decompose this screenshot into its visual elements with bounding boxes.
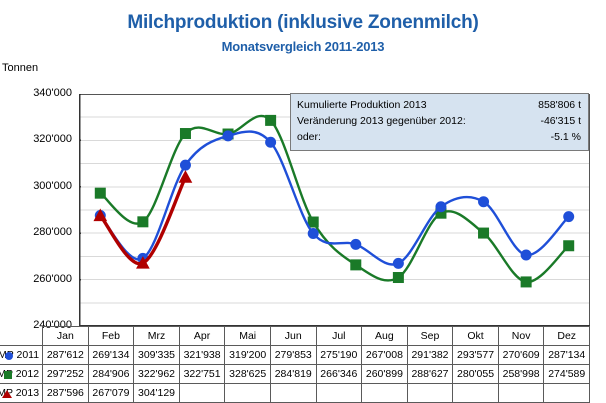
annotation-value: -5.1 % [551, 130, 581, 145]
chart-page: Milchproduktion (inklusive Zonenmilch) M… [0, 0, 606, 402]
page-title: Milchproduktion (inklusive Zonenmilch) [0, 12, 606, 34]
annotation-row-change: Veränderung 2013 gegenüber 2012: -46'315… [297, 114, 581, 129]
table-cell: 287'596 [43, 384, 89, 403]
data-point-marker [180, 160, 190, 170]
annotation-label: Kumulierte Produktion 2013 [297, 98, 427, 113]
data-point-marker [393, 273, 403, 283]
table-cell: 288'627 [407, 365, 453, 384]
table-column-header-nov: Nov [498, 327, 544, 346]
table-cell: 304'129 [134, 384, 180, 403]
table-corner-cell [0, 327, 43, 346]
table-cell: 279'853 [270, 346, 316, 365]
table-column-header-jul: Jul [316, 327, 362, 346]
data-point-marker [479, 228, 489, 238]
table-body: MP 2011287'612269'134309'335321'938319'2… [0, 346, 590, 403]
table-column-header-feb: Feb [88, 327, 134, 346]
table-column-header-jun: Jun [270, 327, 316, 346]
table-cell: 319'200 [225, 346, 271, 365]
table-cell: 275'190 [316, 346, 362, 365]
table-column-header-apr: Apr [179, 327, 225, 346]
y-tick-label: 280'000 [0, 226, 72, 238]
data-point-marker [266, 137, 276, 147]
legend-entry-mp-2012[interactable]: MP 2012 [0, 365, 43, 384]
table-cell: 321'938 [179, 346, 225, 365]
table-cell: 284'819 [270, 365, 316, 384]
table-cell: 280'055 [453, 365, 499, 384]
table-cell: 267'008 [362, 346, 408, 365]
table-column-header-mai: Mai [225, 327, 271, 346]
data-point-marker [521, 277, 531, 287]
table-cell: 328'625 [225, 365, 271, 384]
table-cell: 269'134 [88, 346, 134, 365]
table-row: MP 2011287'612269'134309'335321'938319'2… [0, 346, 590, 365]
table-cell [544, 384, 590, 403]
table-cell [362, 384, 408, 403]
annotation-row-percent: oder: -5.1 % [297, 130, 581, 145]
data-point-marker [95, 188, 105, 198]
table-column-header-sep: Sep [407, 327, 453, 346]
table-cell: 284'906 [88, 365, 134, 384]
data-point-marker [479, 197, 489, 207]
annotation-row-cumulative: Kumulierte Produktion 2013 858'806 t [297, 98, 581, 113]
table-row: MP 2013287'596267'079304'129 [0, 384, 590, 403]
table-cell: 309'335 [134, 346, 180, 365]
data-point-marker [351, 260, 361, 270]
data-point-marker [521, 250, 531, 260]
data-point-marker [308, 217, 318, 227]
data-point-marker [308, 229, 318, 239]
table-header-row: JanFebMrzAprMaiJunJulAugSepOktNovDez [0, 327, 590, 346]
table-cell: 274'589 [544, 365, 590, 384]
table-cell: 287'134 [544, 346, 590, 365]
table-cell: 267'079 [88, 384, 134, 403]
annotation-value: 858'806 t [538, 98, 581, 113]
table-column-header-mrz: Mrz [134, 327, 180, 346]
data-point-marker [564, 212, 574, 222]
y-tick-label: 340'000 [0, 87, 72, 99]
data-point-marker [564, 241, 574, 251]
y-axis-label: Tonnen [2, 62, 38, 74]
annotation-box: Kumulierte Produktion 2013 858'806 t Ver… [290, 93, 589, 151]
table-cell [270, 384, 316, 403]
series-line [100, 132, 568, 265]
table-cell: 291'382 [407, 346, 453, 365]
page-subtitle: Monatsvergleich 2011-2013 [0, 39, 606, 54]
table-cell: 266'346 [316, 365, 362, 384]
table-cell: 293'577 [453, 346, 499, 365]
data-point-marker [180, 129, 190, 139]
annotation-label: oder: [297, 130, 321, 145]
table-column-header-dez: Dez [544, 327, 590, 346]
data-point-marker [138, 217, 148, 227]
table-row: MP 2012297'252284'906322'962322'751328'6… [0, 365, 590, 384]
table-cell: 322'751 [179, 365, 225, 384]
table-cell: 258'998 [498, 365, 544, 384]
data-point-marker [266, 115, 276, 125]
y-tick-label: 320'000 [0, 133, 72, 145]
y-tick-label: 300'000 [0, 180, 72, 192]
table-cell [316, 384, 362, 403]
triangle-marker-icon [2, 390, 12, 398]
annotation-value: -46'315 t [540, 114, 581, 129]
legend-entry-mp-2013[interactable]: MP 2013 [0, 384, 43, 403]
data-point-marker [436, 202, 446, 212]
table-cell [453, 384, 499, 403]
table-cell: 270'609 [498, 346, 544, 365]
data-point-marker [223, 131, 233, 141]
y-tick-label: 260'000 [0, 273, 72, 285]
data-table: JanFebMrzAprMaiJunJulAugSepOktNovDez MP … [0, 326, 590, 403]
data-point-marker [393, 258, 403, 268]
data-point-marker [351, 239, 361, 249]
circle-marker-icon [5, 352, 13, 360]
annotation-label: Veränderung 2013 gegenüber 2012: [297, 114, 466, 129]
table-cell [179, 384, 225, 403]
table-cell [225, 384, 271, 403]
table-column-header-jan: Jan [43, 327, 89, 346]
table-cell [407, 384, 453, 403]
table-cell [498, 384, 544, 403]
square-marker-icon [4, 371, 12, 379]
table-cell: 322'962 [134, 365, 180, 384]
table-cell: 287'612 [43, 346, 89, 365]
table-cell: 297'252 [43, 365, 89, 384]
table-cell: 260'899 [362, 365, 408, 384]
table-column-header-okt: Okt [453, 327, 499, 346]
table-column-header-aug: Aug [362, 327, 408, 346]
legend-entry-mp-2011[interactable]: MP 2011 [0, 346, 43, 365]
